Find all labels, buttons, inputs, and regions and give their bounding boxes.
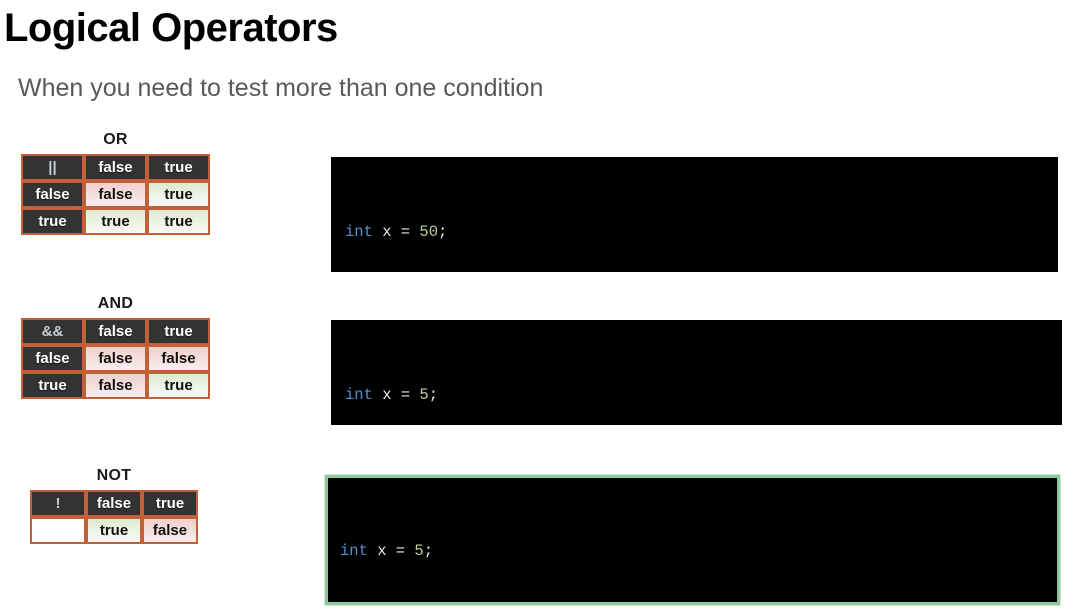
code-line: int x = 50; bbox=[345, 219, 1046, 245]
and-cell-true-true: true bbox=[147, 372, 210, 399]
truth-table-and-caption: AND bbox=[21, 295, 210, 313]
table-row: ! false true bbox=[30, 490, 198, 517]
and-row-header-false: false bbox=[21, 345, 84, 372]
not-cell-false: true bbox=[86, 517, 142, 544]
code-line: int x = 5; bbox=[345, 382, 1050, 408]
and-cell-false-false: false bbox=[84, 345, 147, 372]
page-title: Logical Operators bbox=[4, 6, 338, 50]
or-row-header-true: true bbox=[21, 208, 84, 235]
truth-table-and: && false true false false false true fal… bbox=[21, 318, 210, 399]
truth-table-or-caption: OR bbox=[21, 131, 210, 149]
not-row-header-empty bbox=[30, 517, 86, 544]
table-row: && false true bbox=[21, 318, 210, 345]
code-block-or-example[interactable]: int x = 50; if (x < 0 || x > 100){ Syste… bbox=[331, 157, 1058, 272]
truth-table-or-group: OR || false true false false true true t… bbox=[21, 131, 210, 235]
code-block-and-example[interactable]: int x = 5; if (x > 3 && x < 10){ System.… bbox=[331, 320, 1062, 425]
not-cell-true: false bbox=[142, 517, 198, 544]
or-col-header-false: false bbox=[84, 154, 147, 181]
or-operator-cell: || bbox=[21, 154, 84, 181]
code-block-not-example[interactable]: int x = 5; if (!(x > 3)){ System.out.pri… bbox=[325, 475, 1060, 605]
truth-table-not-group: NOT ! false true true false bbox=[30, 467, 198, 544]
and-operator-cell: && bbox=[21, 318, 84, 345]
table-row: || false true bbox=[21, 154, 210, 181]
or-cell-true-false: true bbox=[84, 208, 147, 235]
code-line: int x = 5; bbox=[340, 538, 1045, 564]
or-col-header-true: true bbox=[147, 154, 210, 181]
page-subtitle: When you need to test more than one cond… bbox=[18, 74, 543, 103]
and-row-header-true: true bbox=[21, 372, 84, 399]
and-cell-true-false: false bbox=[84, 372, 147, 399]
table-row: false false false bbox=[21, 345, 210, 372]
table-row: true false bbox=[30, 517, 198, 544]
truth-table-not-caption: NOT bbox=[30, 467, 198, 485]
not-col-header-true: true bbox=[142, 490, 198, 517]
table-row: true false true bbox=[21, 372, 210, 399]
truth-table-or: || false true false false true true true… bbox=[21, 154, 210, 235]
and-cell-false-true: false bbox=[147, 345, 210, 372]
and-col-header-false: false bbox=[84, 318, 147, 345]
and-col-header-true: true bbox=[147, 318, 210, 345]
table-row: false false true bbox=[21, 181, 210, 208]
or-cell-false-true: true bbox=[147, 181, 210, 208]
or-row-header-false: false bbox=[21, 181, 84, 208]
not-col-header-false: false bbox=[86, 490, 142, 517]
truth-table-and-group: AND && false true false false false true… bbox=[21, 295, 210, 399]
table-row: true true true bbox=[21, 208, 210, 235]
truth-table-not: ! false true true false bbox=[30, 490, 198, 544]
or-cell-true-true: true bbox=[147, 208, 210, 235]
not-operator-cell: ! bbox=[30, 490, 86, 517]
or-cell-false-false: false bbox=[84, 181, 147, 208]
